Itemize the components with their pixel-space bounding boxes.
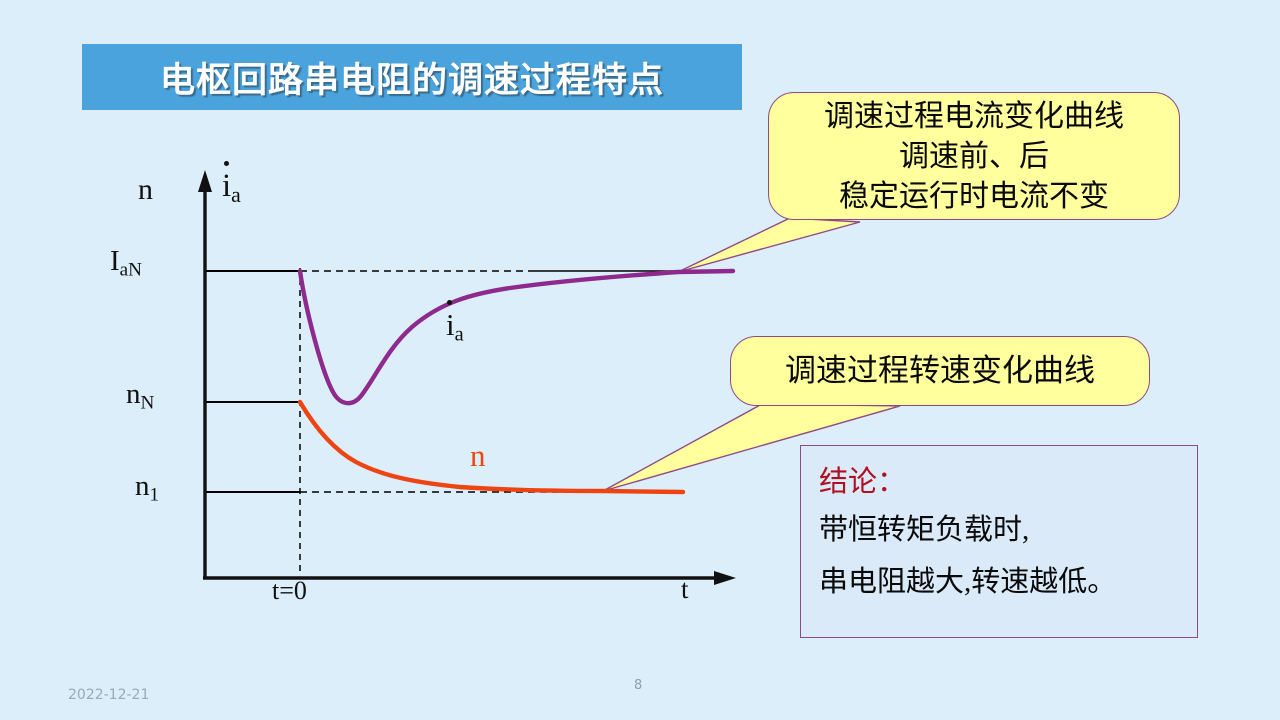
curve-label-n: n — [470, 438, 486, 474]
footer-page-number: 8 — [634, 678, 642, 693]
current-callout-tail — [678, 218, 860, 272]
callout-line: 调速过程电流变化曲线 — [769, 97, 1179, 137]
callout-speed-curve: 调速过程转速变化曲线 — [730, 336, 1150, 406]
axis-label-t: t — [681, 574, 689, 605]
curve-label-ia: ia — [446, 307, 464, 347]
y-tick-label-IaN: IaN — [110, 245, 142, 281]
page-title: 电枢回路串电阻的调速过程特点 — [160, 52, 664, 103]
conclusion-line-1: 带恒转矩负载时, — [819, 504, 1197, 556]
dot-accent-icon — [447, 300, 452, 305]
axis-label-n: n — [138, 173, 153, 207]
callout-line: 稳定运行时电流不变 — [769, 177, 1179, 217]
callout-line: 调速过程转速变化曲线 — [731, 337, 1149, 405]
footer-date: 2022-12-21 — [68, 687, 149, 703]
axis-label-ia: ia — [222, 168, 241, 208]
callout-line: 调速前、后 — [769, 137, 1179, 177]
x-axis-arrow-icon — [714, 571, 736, 585]
slide-canvas: 电枢回路串电阻的调速过程特点 n ia IaN nN — [0, 0, 1280, 720]
y-tick-label-n1: n1 — [135, 470, 159, 506]
conclusion-box: 结论： 带恒转矩负载时, 串电阻越大,转速越低。 — [800, 445, 1198, 638]
speed-curve-n — [300, 402, 683, 492]
conclusion-line-2: 串电阻越大,转速越低。 — [819, 556, 1197, 608]
x-tick-label-t0: t=0 — [272, 576, 307, 606]
slide-title-banner: 电枢回路串电阻的调速过程特点 — [82, 44, 742, 110]
callout-current-curve: 调速过程电流变化曲线 调速前、后 稳定运行时电流不变 — [768, 92, 1180, 220]
dot-accent-icon — [224, 161, 229, 166]
current-curve-ia — [300, 271, 733, 403]
y-tick-label-nN: nN — [126, 378, 154, 414]
conclusion-heading: 结论： — [819, 460, 1197, 504]
y-axis-arrow-icon — [198, 170, 212, 192]
